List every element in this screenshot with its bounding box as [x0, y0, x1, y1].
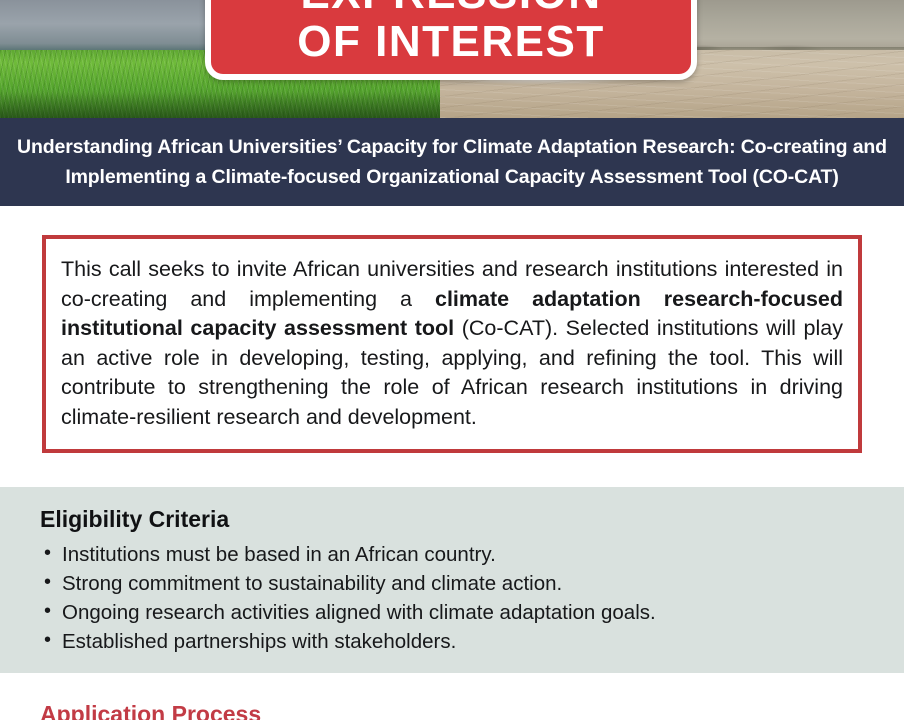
- eligibility-heading: Eligibility Criteria: [40, 505, 864, 533]
- list-item: Strong commitment to sustainability and …: [40, 569, 864, 598]
- expression-of-interest-banner: EXPRESSION OF INTEREST: [205, 0, 697, 80]
- list-item: Ongoing research activities aligned with…: [40, 598, 864, 627]
- banner-line-1: EXPRESSION: [300, 0, 601, 18]
- list-item: Institutions must be based in an African…: [40, 540, 864, 569]
- eligibility-section: Eligibility Criteria Institutions must b…: [0, 487, 904, 673]
- hero-image: EXPRESSION OF INTEREST: [0, 0, 904, 118]
- call-description-box: This call seeks to invite African univer…: [42, 235, 862, 453]
- eoi-flyer-page: EXPRESSION OF INTEREST Understanding Afr…: [0, 0, 904, 720]
- application-process-heading: Application Process: [40, 700, 640, 720]
- banner-line-2: OF INTEREST: [297, 18, 604, 66]
- call-description-text: This call seeks to invite African univer…: [61, 255, 843, 432]
- page-title: Understanding African Universities’ Capa…: [10, 132, 894, 192]
- list-item: Established partnerships with stakeholde…: [40, 627, 864, 656]
- title-bar: Understanding African Universities’ Capa…: [0, 118, 904, 206]
- eligibility-criteria-list: Institutions must be based in an African…: [40, 540, 864, 656]
- application-process-section: Application Process: [40, 700, 640, 720]
- grass-shadow: [0, 92, 452, 118]
